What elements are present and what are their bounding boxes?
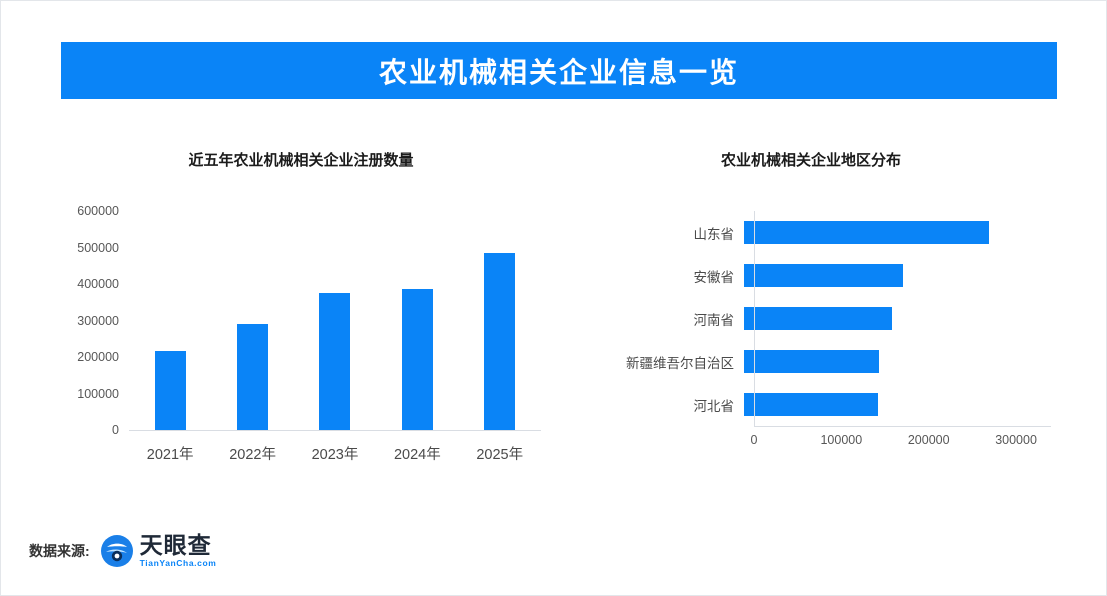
bar[interactable] (484, 253, 515, 430)
tianyancha-logo[interactable]: 天眼查 TianYanCha.com (100, 534, 217, 568)
bar-column[interactable] (459, 211, 541, 430)
horizontal-bars-plot-area: 山东省安徽省河南省新疆维吾尔自治区河北省 (581, 211, 1061, 426)
bar[interactable] (237, 324, 268, 430)
bar[interactable] (402, 289, 433, 430)
x-axis-ticks: 0100000200000300000 (754, 433, 1064, 453)
footer: 数据来源: 天眼查 TianYanCha.com (29, 529, 216, 573)
data-source-label: 数据来源: (29, 541, 90, 561)
bar[interactable] (744, 350, 879, 373)
bar-row[interactable]: 山东省 (581, 211, 1061, 254)
chart-title-regions: 农业机械相关企业地区分布 (581, 149, 1041, 170)
registration-count-chart-panel: 近五年农业机械相关企业注册数量 010000020000030000040000… (61, 149, 561, 479)
y-tick-label: 500000 (61, 241, 119, 255)
vertical-bars-plot-area (129, 211, 541, 430)
y-tick-label: 200000 (61, 350, 119, 364)
bar[interactable] (319, 293, 350, 430)
bar-column[interactable] (212, 211, 294, 430)
y-tick-label: 100000 (61, 387, 119, 401)
bar-row[interactable]: 河北省 (581, 383, 1061, 426)
bar-row[interactable]: 河南省 (581, 297, 1061, 340)
bar[interactable] (744, 264, 903, 287)
bar[interactable] (744, 221, 989, 244)
bar-track (744, 340, 1061, 383)
y-tick-label: 0 (61, 423, 119, 437)
bar[interactable] (744, 307, 892, 330)
x-axis-line (129, 430, 541, 431)
x-tick-label: 2023年 (294, 443, 376, 464)
x-tick-label: 200000 (908, 433, 950, 447)
category-label: 安徽省 (581, 266, 744, 286)
y-tick-label: 600000 (61, 204, 119, 218)
category-label: 河南省 (581, 309, 744, 329)
y-tick-label: 400000 (61, 277, 119, 291)
x-tick-label: 2025年 (459, 443, 541, 464)
x-tick-label: 2024年 (376, 443, 458, 464)
vertical-bar-chart: 0100000200000300000400000500000600000 20… (61, 211, 561, 473)
bar[interactable] (744, 393, 878, 416)
x-tick-label: 0 (751, 433, 758, 447)
y-axis-line (754, 211, 755, 426)
region-distribution-chart-panel: 农业机械相关企业地区分布 山东省安徽省河南省新疆维吾尔自治区河北省 010000… (581, 149, 1061, 499)
chart-title-registrations: 近五年农业机械相关企业注册数量 (61, 149, 541, 170)
logo-domain-text: TianYanCha.com (140, 559, 217, 568)
category-label: 河北省 (581, 395, 744, 415)
page-title: 农业机械相关企业信息一览 (379, 51, 739, 91)
x-tick-label: 2022年 (212, 443, 294, 464)
bar-track (744, 211, 1061, 254)
bar-column[interactable] (294, 211, 376, 430)
bar-column[interactable] (129, 211, 211, 430)
header-banner: 农业机械相关企业信息一览 (61, 42, 1057, 99)
tianyancha-eye-logo-icon (100, 534, 134, 568)
infographic-page: 农业机械相关企业信息一览 近五年农业机械相关企业注册数量 01000002000… (0, 0, 1107, 596)
bar-track (744, 254, 1061, 297)
horizontal-bar-chart: 山东省安徽省河南省新疆维吾尔自治区河北省 0100000200000300000 (581, 211, 1061, 491)
logo-text-block: 天眼查 TianYanCha.com (140, 534, 217, 568)
bar-track (744, 297, 1061, 340)
bar-track (744, 383, 1061, 426)
bar-row[interactable]: 新疆维吾尔自治区 (581, 340, 1061, 383)
x-axis-line (754, 426, 1051, 427)
logo-wordmark: 天眼查 (140, 534, 217, 557)
x-tick-label: 100000 (820, 433, 862, 447)
bar[interactable] (155, 351, 186, 430)
category-label: 新疆维吾尔自治区 (581, 352, 744, 372)
bar-column[interactable] (376, 211, 458, 430)
category-label: 山东省 (581, 223, 744, 243)
x-tick-label: 2021年 (129, 443, 211, 464)
x-axis-labels: 2021年2022年2023年2024年2025年 (129, 443, 541, 464)
bar-row[interactable]: 安徽省 (581, 254, 1061, 297)
y-tick-label: 300000 (61, 314, 119, 328)
x-tick-label: 300000 (995, 433, 1037, 447)
